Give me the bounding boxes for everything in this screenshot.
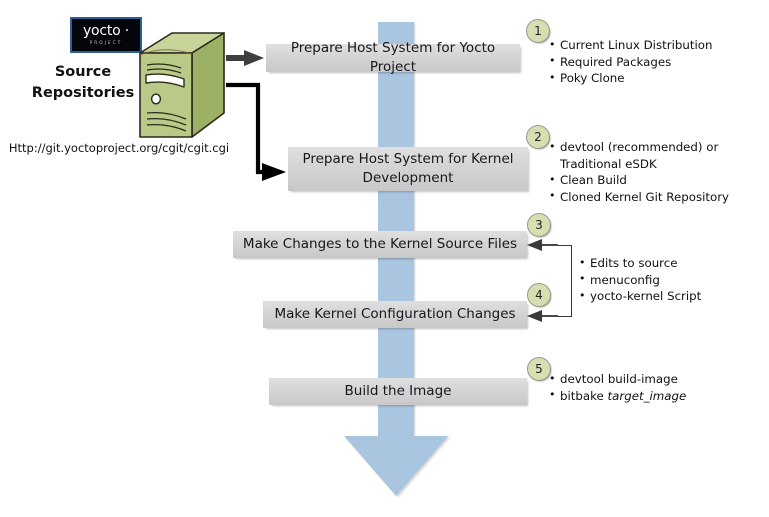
step-badge-4: 4: [527, 283, 551, 307]
list-item: Cloned Kernel Git Repository: [549, 189, 767, 206]
server-tower-icon: [134, 31, 226, 139]
main-flow-arrow-shaft: [378, 22, 414, 437]
source-repository-url: Http://git.yoctoproject.org/cgit/cgit.cg…: [4, 141, 234, 155]
list-item: yocto-kernel Script: [579, 288, 759, 305]
yocto-logo-subtitle: PROJECT: [90, 39, 123, 46]
list-item: Required Packages: [549, 54, 764, 71]
yocto-project-logo: yocto · PROJECT: [70, 17, 142, 53]
bitbake-target-image-italic: target_image: [608, 389, 687, 403]
step-badge-1: 1: [526, 19, 550, 43]
box2-line1: Prepare Host System for Kernel: [302, 150, 513, 169]
source-repositories-label: Source Repositories: [24, 62, 142, 104]
source-label-line2: Repositories: [24, 83, 142, 104]
list-item: Clean Build: [549, 172, 767, 189]
step-badge-2: 2: [526, 125, 550, 149]
box2-line2: Development: [302, 169, 513, 188]
bitbake-command-prefix: bitbake: [560, 389, 608, 403]
list-item: Poky Clone: [549, 70, 764, 87]
steps-3-4-bracket: [558, 245, 572, 317]
process-box-build-the-image[interactable]: Build the Image: [269, 378, 527, 405]
list-item: menuconfig: [579, 272, 759, 289]
process-box-make-kernel-source-changes[interactable]: Make Changes to the Kernel Source Files: [233, 231, 527, 258]
process-box-prepare-host-yocto[interactable]: Prepare Host System for Yocto Project: [266, 44, 520, 72]
step-5-bullet-list: devtool build-image bitbake target_image: [549, 371, 764, 404]
source-label-line1: Source: [24, 62, 142, 83]
step-1-bullet-list: Current Linux Distribution Required Pack…: [549, 37, 764, 87]
list-item: Edits to source: [579, 255, 759, 272]
main-flow-arrow-head: [344, 436, 448, 496]
steps-3-4-bullet-list: Edits to source menuconfig yocto-kernel …: [579, 255, 759, 305]
workflow-diagram: yocto · PROJECT Source Repositories Http…: [0, 0, 769, 517]
list-item: bitbake target_image: [549, 388, 764, 405]
list-item: Current Linux Distribution: [549, 37, 764, 54]
list-item: devtool (recommended) or Traditional eSD…: [549, 139, 767, 172]
process-box-prepare-host-kernel[interactable]: Prepare Host System for Kernel Developme…: [288, 147, 528, 191]
process-box-make-kernel-config-changes[interactable]: Make Kernel Configuration Changes: [263, 301, 527, 328]
step-badge-5: 5: [527, 357, 551, 381]
step-badge-3: 3: [527, 213, 551, 237]
step-2-bullet-list: devtool (recommended) or Traditional eSD…: [549, 139, 767, 205]
list-item: devtool build-image: [549, 371, 764, 388]
yocto-logo-wordmark: yocto ·: [83, 24, 129, 38]
